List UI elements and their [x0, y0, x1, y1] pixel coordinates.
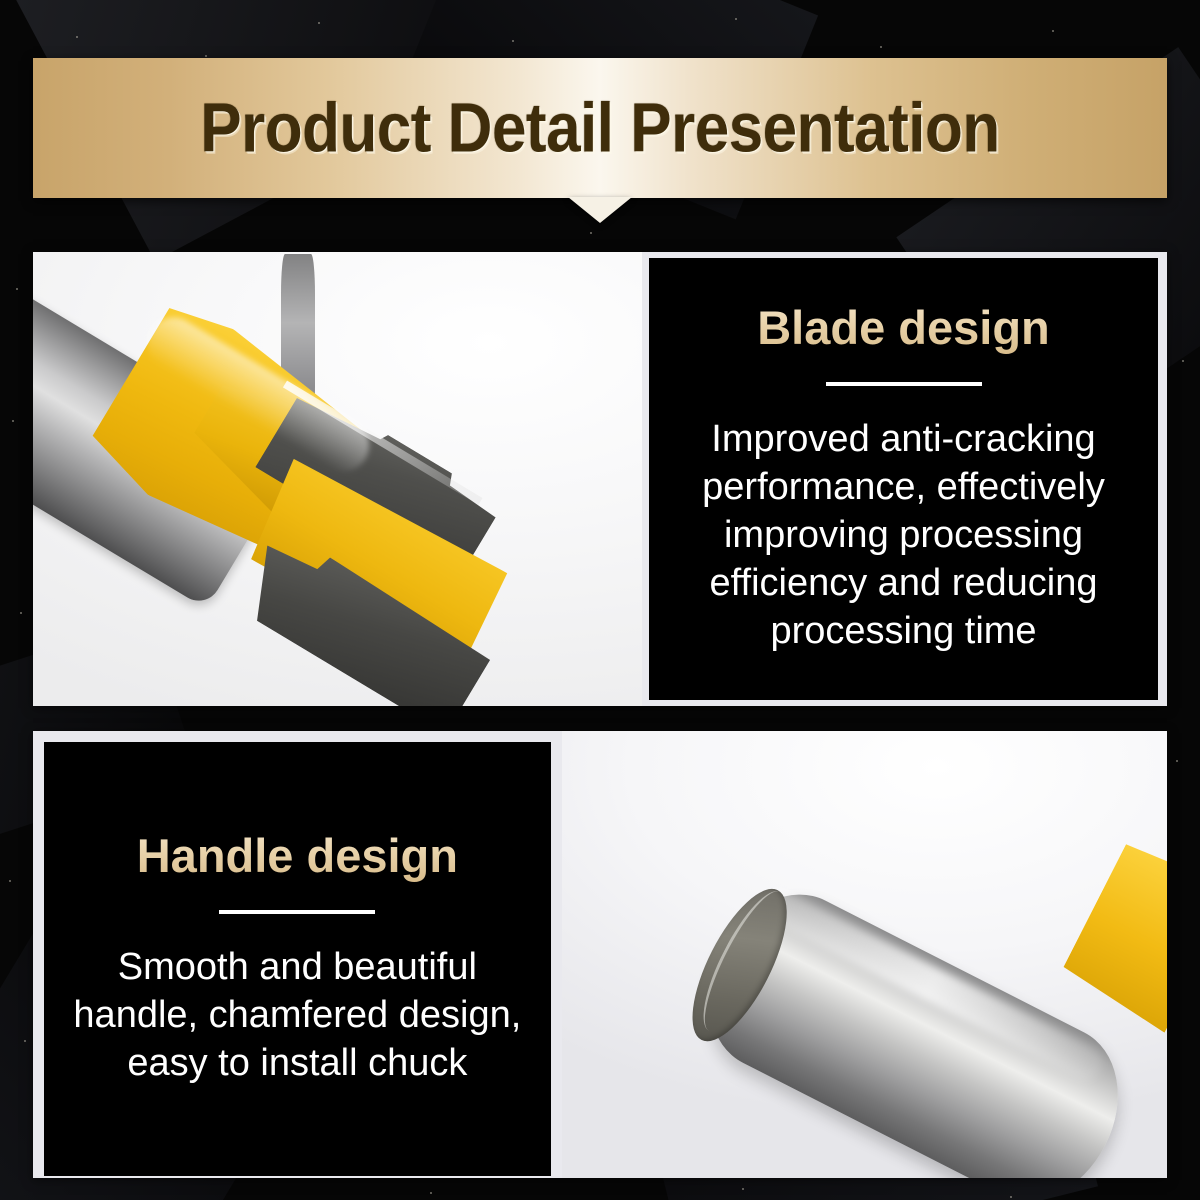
- background-speck: [512, 40, 514, 42]
- text-panel-handle-design: Handle design Smooth and beautiful handl…: [44, 742, 551, 1176]
- background-speck: [1182, 360, 1184, 362]
- background-speck: [590, 232, 592, 234]
- background-speck: [735, 18, 737, 20]
- title-banner-background: Product Detail Presentation: [33, 58, 1167, 198]
- section-heading: Handle design: [137, 830, 458, 882]
- background-speck: [1010, 1196, 1012, 1198]
- background-speck: [1052, 30, 1054, 32]
- background-speck: [430, 1192, 432, 1194]
- background-speck: [76, 36, 78, 38]
- product-detail-page: Product Detail Presentation Blade design…: [0, 0, 1200, 1200]
- text-panel-blade-design: Blade design Improved anti-cracking perf…: [649, 258, 1158, 700]
- title-banner: Product Detail Presentation: [33, 58, 1167, 198]
- background-speck: [880, 46, 882, 48]
- page-title: Product Detail Presentation: [33, 50, 1167, 207]
- product-photo-handle: [562, 731, 1167, 1178]
- section-body-text: Smooth and beautiful handle, chamfered d…: [72, 944, 522, 1088]
- section-body-text: Improved anti-cracking performance, effe…: [669, 416, 1139, 655]
- heading-divider: [826, 382, 982, 386]
- background-speck: [24, 1040, 26, 1042]
- background-speck: [12, 420, 14, 422]
- background-speck: [20, 612, 22, 614]
- background-speck: [9, 880, 11, 882]
- section-card-blade-design: Blade design Improved anti-cracking perf…: [33, 252, 1167, 706]
- background-speck: [742, 1188, 744, 1190]
- section-heading: Blade design: [757, 302, 1050, 354]
- banner-arrow-icon: [568, 197, 632, 223]
- background-speck: [16, 288, 18, 290]
- background-speck: [318, 22, 320, 24]
- background-speck: [1176, 760, 1178, 762]
- heading-divider: [219, 910, 375, 914]
- product-photo-blade: [33, 252, 642, 706]
- section-card-handle-design: Handle design Smooth and beautiful handl…: [33, 731, 1167, 1178]
